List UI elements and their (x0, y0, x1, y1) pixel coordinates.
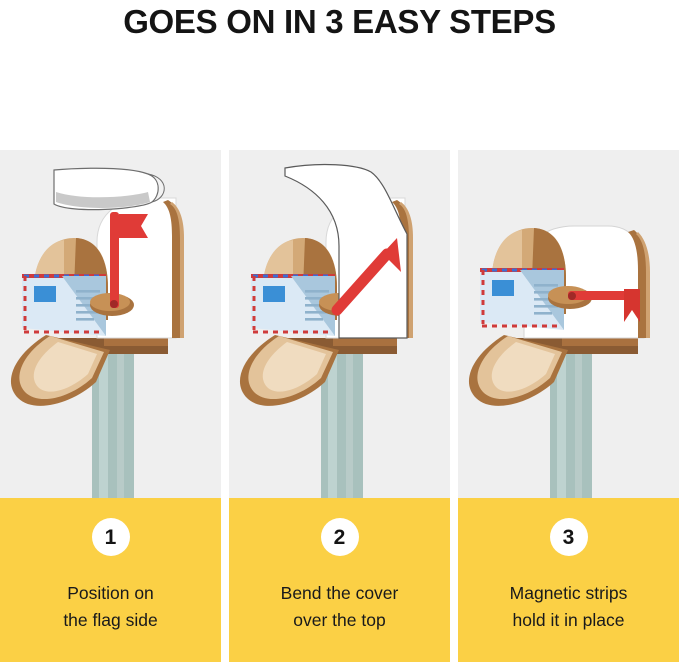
step-panel-1: 1 Position on the flag side (0, 150, 221, 662)
step-caption-1-line1: Position on (63, 580, 157, 607)
steps-row: 1 Position on the flag side (0, 150, 679, 662)
mailbox-illustration-3 (458, 150, 679, 498)
caption-band-2: 2 Bend the cover over the top (229, 498, 450, 662)
caption-band-1: 1 Position on the flag side (0, 498, 221, 662)
footer-spacer (0, 662, 679, 668)
step-number-1: 1 (92, 518, 130, 556)
step-panel-3: 3 Magnetic strips hold it in place (458, 150, 679, 662)
step-caption-1: Position on the flag side (63, 580, 157, 634)
step-caption-1-line2: the flag side (63, 607, 157, 634)
header: GOES ON IN 3 EASY STEPS (0, 0, 679, 150)
caption-band-3: 3 Magnetic strips hold it in place (458, 498, 679, 662)
envelope-stamp (492, 280, 514, 296)
step-caption-3: Magnetic strips hold it in place (510, 580, 628, 634)
mailbox-illustration-1 (0, 150, 221, 498)
step-caption-3-line1: Magnetic strips (510, 580, 628, 607)
step-number-2: 2 (321, 518, 359, 556)
illustration-step-2 (229, 150, 450, 498)
step-caption-3-line2: hold it in place (510, 607, 628, 634)
cover-sheet (54, 168, 164, 209)
step-caption-2-line2: over the top (281, 607, 399, 634)
step-caption-2-line1: Bend the cover (281, 580, 399, 607)
step-number-3: 3 (550, 518, 588, 556)
mailbox-illustration-2 (229, 150, 450, 498)
illustration-step-1 (0, 150, 221, 498)
envelope-stamp (34, 286, 56, 302)
step-panel-2: 2 Bend the cover over the top (229, 150, 450, 662)
page-title: GOES ON IN 3 EASY STEPS (123, 2, 556, 42)
step-caption-2: Bend the cover over the top (281, 580, 399, 634)
illustration-step-3 (458, 150, 679, 498)
envelope-stamp (263, 286, 285, 302)
